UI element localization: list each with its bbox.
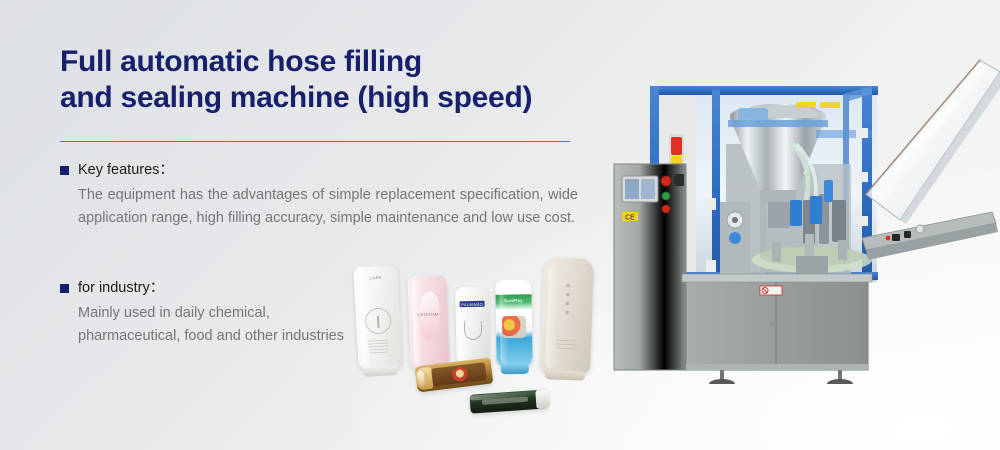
- machine-illustration: CE: [600, 24, 1000, 384]
- section-body: Mainly used in daily chemical, pharmaceu…: [78, 302, 346, 349]
- tube-large-beige: [540, 257, 594, 375]
- tube-sunplay: SunPlay: [495, 280, 533, 369]
- tube-label: CRISTINA: [417, 312, 439, 318]
- machine-photo: CE: [600, 24, 1000, 384]
- section-heading-row: for industry：: [60, 278, 360, 300]
- title-divider: [60, 141, 570, 142]
- feature-block-for-industry: for industry： Mainly used in daily chemi…: [60, 278, 360, 349]
- feature-block-key-features: Key features： The equipment has the adva…: [60, 160, 580, 231]
- text-column: Full automatic hose filling and sealing …: [60, 44, 580, 116]
- tube-label: LAPA: [370, 275, 382, 281]
- tube-small-white: PALMARO: [455, 287, 489, 368]
- tube-pink-cream: CRISTINA: [407, 275, 449, 370]
- section-body: The equipment has the advantages of simp…: [78, 184, 578, 231]
- tube-label: PALMARO: [461, 302, 483, 307]
- tube-white-cosmetic: LAPA: [353, 265, 402, 371]
- section-heading: Key features：: [78, 160, 174, 182]
- page-title: Full automatic hose filling and sealing …: [60, 44, 580, 116]
- product-tubes-group: LAPA CRISTINA PALMARO SunPlay: [352, 252, 632, 427]
- section-heading: for industry：: [78, 278, 164, 300]
- ce-label: CE: [625, 215, 635, 222]
- tube-label: SunPlay: [504, 298, 523, 303]
- bullet-square-icon: [60, 166, 69, 175]
- tube-dark-green: [469, 389, 548, 413]
- bullet-square-icon: [60, 284, 69, 293]
- product-banner: Full automatic hose filling and sealing …: [0, 0, 1000, 450]
- section-heading-row: Key features：: [60, 160, 580, 182]
